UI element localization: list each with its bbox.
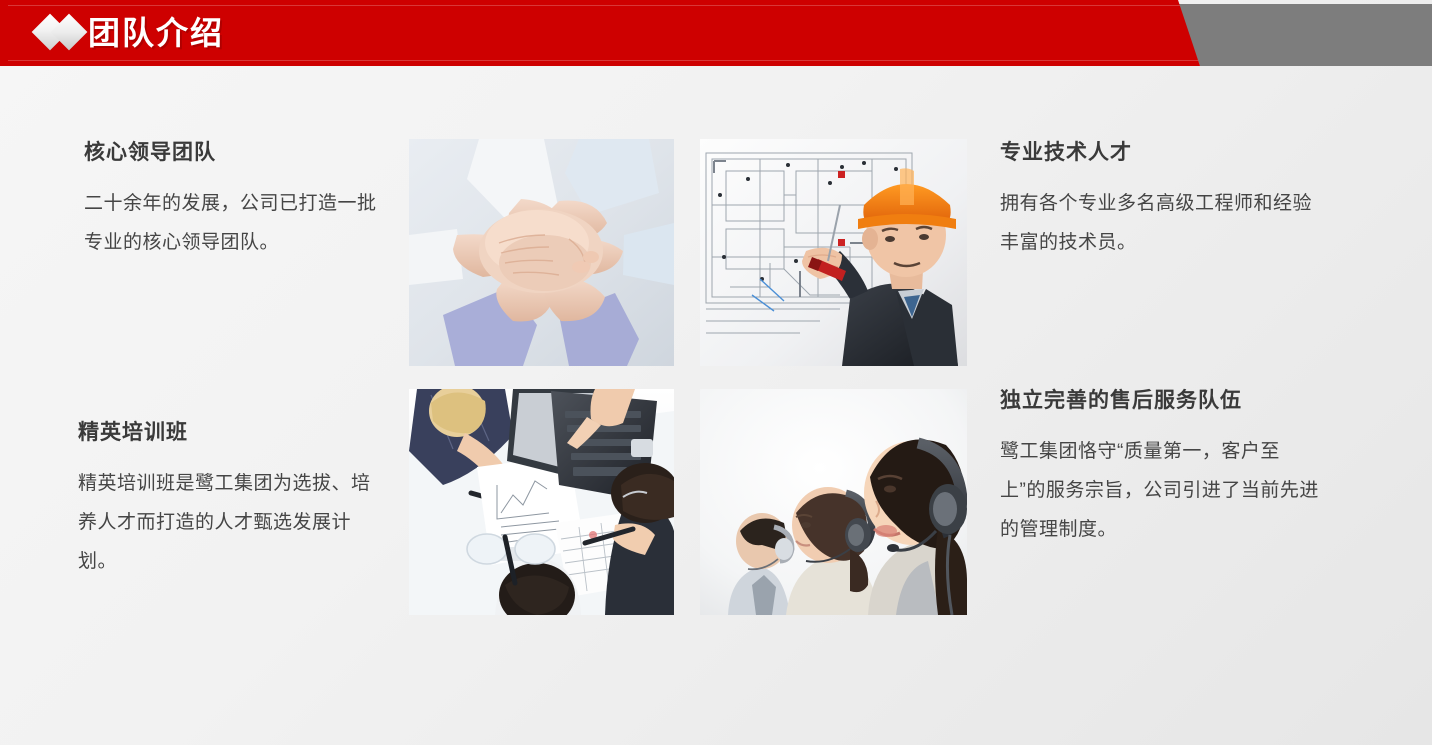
page-title: 团队介绍 xyxy=(88,9,224,57)
photo-engineer-blueprint xyxy=(700,139,967,366)
header-banner: 团队介绍 xyxy=(0,0,1432,72)
text-block-core-leadership-team: 核心领导团队 二十余年的发展，公司已打造一批专业的核心领导团队。 xyxy=(84,136,384,262)
text-block-elite-training-class: 精英培训班 精英培训班是鹭工集团为选拔、培养人才而打造的人才甄选发展计划。 xyxy=(78,416,378,581)
block-title: 专业技术人才 xyxy=(1000,136,1320,166)
photo-business-meeting xyxy=(409,389,674,615)
text-block-professional-technical-talent: 专业技术人才 拥有各个专业多名高级工程师和经验丰富的技术员。 xyxy=(1000,136,1320,262)
photo-call-center-agents xyxy=(700,389,967,615)
slide: 团队介绍 核心领导团队 二十余年的发展，公司已打造一批专业的核心领导团队。 精英… xyxy=(0,0,1432,745)
content-area: 核心领导团队 二十余年的发展，公司已打造一批专业的核心领导团队。 精英培训班 精… xyxy=(0,72,1432,745)
block-body: 精英培训班是鹭工集团为选拔、培养人才而打造的人才甄选发展计划。 xyxy=(78,464,378,581)
block-body: 二十余年的发展，公司已打造一批专业的核心领导团队。 xyxy=(84,184,384,262)
block-body: 鹭工集团恪守“质量第一，客户至上”的服务宗旨，公司引进了当前先进的管理制度。 xyxy=(1000,432,1320,549)
block-title: 精英培训班 xyxy=(78,416,378,446)
header-gray-band xyxy=(1178,4,1432,66)
text-block-after-sales-service-team: 独立完善的售后服务队伍 鹭工集团恪守“质量第一，客户至上”的服务宗旨，公司引进了… xyxy=(1000,384,1320,549)
block-title: 核心领导团队 xyxy=(84,136,384,166)
photo-teamwork-hands xyxy=(409,139,674,366)
block-body: 拥有各个专业多名高级工程师和经验丰富的技术员。 xyxy=(1000,184,1320,262)
block-title: 独立完善的售后服务队伍 xyxy=(1000,384,1320,414)
